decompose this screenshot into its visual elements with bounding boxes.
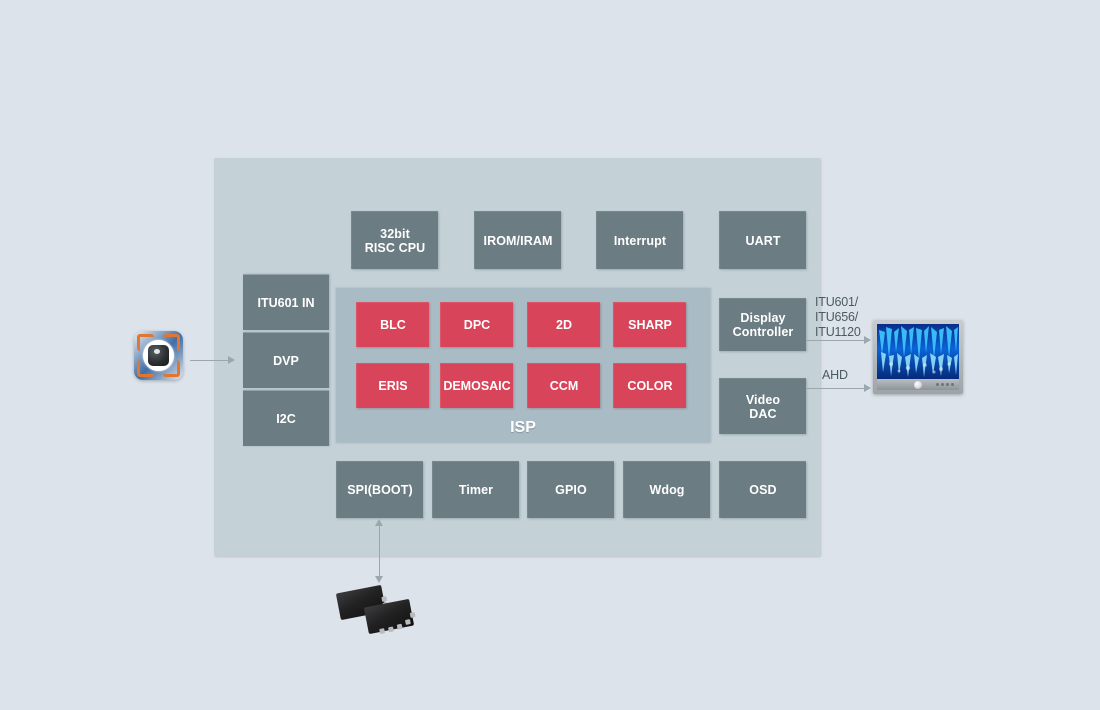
spi-flash-chips-icon	[336, 585, 422, 635]
block-uart[interactable]: UART	[719, 211, 806, 269]
connector-camera-to-dvp	[190, 360, 228, 361]
block-dvp[interactable]: DVP	[243, 332, 329, 388]
camera-lens-icon	[148, 345, 169, 366]
isp-block-color[interactable]: COLOR	[613, 363, 686, 408]
block-gpio[interactable]: GPIO	[527, 461, 614, 518]
block-wdog[interactable]: Wdog	[623, 461, 710, 518]
arrow-videodac-to-monitor-icon	[864, 384, 871, 392]
block-spi-boot[interactable]: SPI(BOOT)	[336, 461, 423, 518]
monitor-screen-image	[877, 324, 959, 379]
isp-block-demosaic[interactable]: DEMOSAIC	[440, 363, 513, 408]
arrow-camera-to-dvp-icon	[228, 356, 235, 364]
isp-label: ISP	[336, 419, 710, 437]
isp-block-eris[interactable]: ERIS	[356, 363, 429, 408]
arrow-spi-up-icon	[375, 519, 383, 526]
block-timer[interactable]: Timer	[432, 461, 519, 518]
camera-module-icon	[134, 331, 183, 380]
block-interrupt[interactable]: Interrupt	[596, 211, 683, 269]
connector-display-to-monitor	[806, 340, 865, 341]
isp-block-sharp[interactable]: SHARP	[613, 302, 686, 347]
arrow-spi-down-icon	[375, 576, 383, 583]
monitor-screen	[877, 324, 959, 379]
display-monitor-icon	[873, 320, 963, 394]
input-interface-column: ITU601 IN DVP I2C	[243, 274, 329, 447]
block-risc-cpu[interactable]: 32bit RISC CPU	[351, 211, 438, 269]
monitor-power-button-icon[interactable]	[914, 381, 922, 389]
isp-block-dpc[interactable]: DPC	[440, 302, 513, 347]
connector-label-ahd: AHD	[822, 368, 848, 383]
monitor-control-dots-icon[interactable]	[936, 383, 954, 386]
monitor-control-bar	[877, 379, 959, 390]
connector-videodac-to-monitor	[806, 388, 865, 389]
block-display-controller[interactable]: Display Controller	[719, 298, 806, 351]
block-i2c[interactable]: I2C	[243, 390, 329, 446]
block-osd[interactable]: OSD	[719, 461, 806, 518]
isp-block-blc[interactable]: BLC	[356, 302, 429, 347]
arrow-display-to-monitor-icon	[864, 336, 871, 344]
isp-subsystem: BLC DPC 2D SHARP ERIS DEMOSAIC CCM COLOR…	[335, 287, 710, 442]
diagram-canvas: SoC Block Diagram 32bit RISC CPU IROM/IR…	[0, 0, 1100, 710]
isp-block-2d[interactable]: 2D	[527, 302, 600, 347]
block-itu601-in[interactable]: ITU601 IN	[243, 274, 329, 330]
block-irom-iram[interactable]: IROM/IRAM	[474, 211, 561, 269]
camera-lens-glint-icon	[154, 349, 160, 354]
isp-block-ccm[interactable]: CCM	[527, 363, 600, 408]
block-video-dac[interactable]: Video DAC	[719, 378, 806, 434]
connector-label-itu: ITU601/ ITU656/ ITU1120	[815, 295, 861, 340]
connector-spi-to-flash	[379, 525, 380, 577]
